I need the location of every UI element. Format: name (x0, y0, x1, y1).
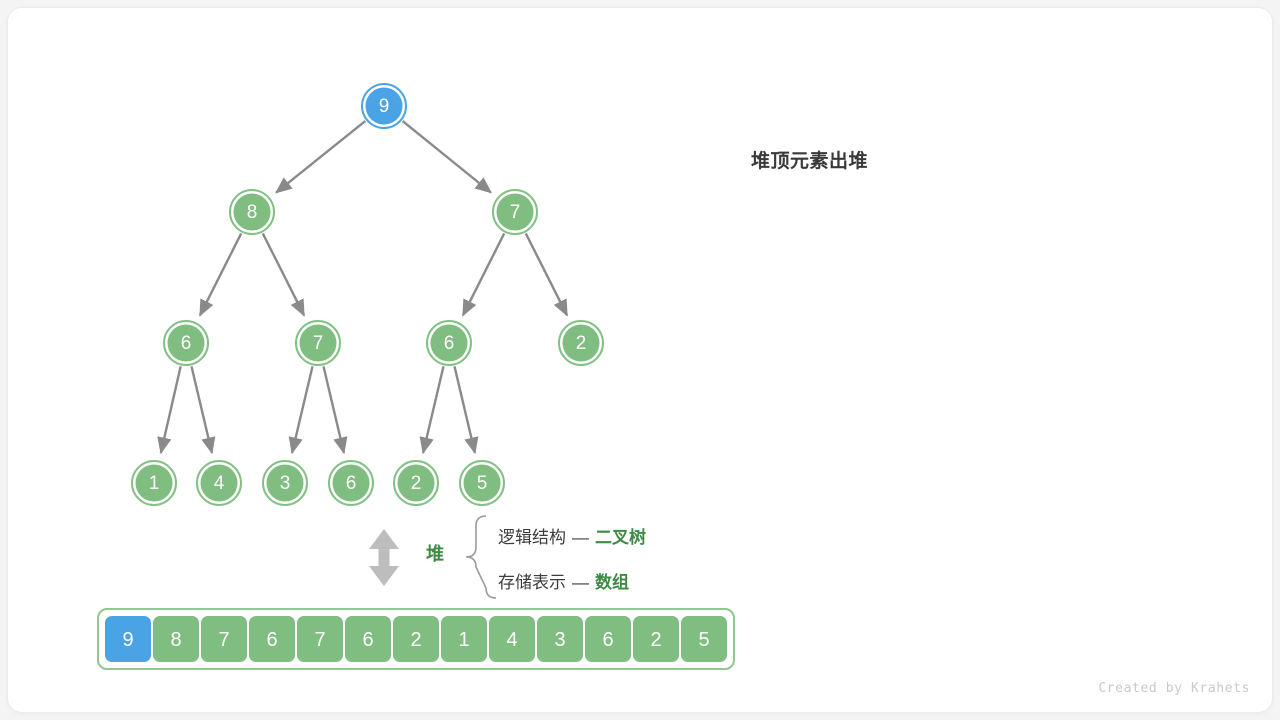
tree-node[interactable]: 9 (362, 84, 406, 128)
figure-card: 9876762143625 9876762143625 堆顶元素出堆 堆 逻辑结… (8, 8, 1272, 712)
tree-node[interactable]: 5 (460, 461, 504, 505)
tree-node[interactable]: 6 (164, 321, 208, 365)
array-cell-value: 2 (650, 629, 661, 651)
tree-node[interactable]: 2 (559, 321, 603, 365)
figure-canvas: 9876762143625 9876762143625 堆顶元素出堆 堆 逻辑结… (0, 0, 1280, 720)
array-cell-value: 2 (410, 629, 421, 651)
array-cell-value: 4 (506, 629, 517, 651)
credit-text: Created by Krahets (1098, 681, 1250, 696)
tree-node[interactable]: 1 (132, 461, 176, 505)
tree-edges (161, 121, 567, 453)
tree-edge (292, 366, 312, 452)
double-arrow-icon (369, 529, 399, 586)
tree-node[interactable]: 4 (197, 461, 241, 505)
array-cell[interactable]: 7 (297, 616, 343, 662)
array-cell-value: 6 (266, 629, 277, 651)
array-cell[interactable]: 7 (201, 616, 247, 662)
legend-row-logical: 逻辑结构—二叉树 (498, 523, 646, 548)
array-cell-value: 6 (602, 629, 613, 651)
tree-node[interactable]: 2 (394, 461, 438, 505)
node-value: 7 (510, 202, 521, 223)
node-value: 6 (181, 333, 192, 354)
tree-edge (276, 121, 365, 193)
tree-edge (192, 366, 212, 452)
array-cell-value: 9 (122, 629, 133, 651)
array-cell[interactable]: 2 (393, 616, 439, 662)
tree-node[interactable]: 6 (427, 321, 471, 365)
tree-edge (423, 366, 443, 452)
heap-diagram-svg: 9876762143625 9876762143625 (8, 8, 1272, 712)
node-value: 4 (214, 473, 225, 494)
node-value: 9 (379, 96, 390, 117)
tree-edge (263, 233, 304, 315)
array-cell-value: 5 (698, 629, 709, 651)
node-value: 8 (247, 202, 258, 223)
legend-dash-logical: — (566, 528, 595, 547)
node-value: 7 (313, 333, 324, 354)
array-cell-value: 7 (218, 629, 229, 651)
page-title: 堆顶元素出堆 (751, 146, 868, 173)
tree-node[interactable]: 7 (296, 321, 340, 365)
tree-node[interactable]: 6 (329, 461, 373, 505)
tree-node[interactable]: 7 (493, 190, 537, 234)
legend-term-array: 数组 (595, 573, 629, 592)
tree-edge (403, 121, 491, 192)
legend-row-storage: 存储表示—数组 (498, 568, 629, 593)
tree-edge (200, 233, 241, 315)
array-cell[interactable]: 6 (585, 616, 631, 662)
node-value: 5 (477, 473, 488, 494)
array-cell[interactable]: 3 (537, 616, 583, 662)
array-cell-value: 7 (314, 629, 325, 651)
array-cell[interactable]: 8 (153, 616, 199, 662)
legend-term-binary-tree: 二叉树 (595, 528, 646, 547)
array-cell[interactable]: 1 (441, 616, 487, 662)
up-down-arrow (369, 529, 399, 586)
array-cell[interactable]: 9 (105, 616, 151, 662)
legend-label-logical: 逻辑结构 (498, 528, 566, 547)
node-value: 6 (444, 333, 455, 354)
tree-edge (161, 366, 181, 452)
array-representation: 9876762143625 (98, 609, 734, 669)
array-cell[interactable]: 4 (489, 616, 535, 662)
tree-edge (455, 366, 475, 452)
array-cell-value: 3 (554, 629, 565, 651)
tree-edge (526, 233, 567, 315)
array-cell[interactable]: 5 (681, 616, 727, 662)
array-cell[interactable]: 6 (345, 616, 391, 662)
node-value: 3 (280, 473, 291, 494)
tree-edge (463, 233, 504, 315)
array-cell[interactable]: 6 (249, 616, 295, 662)
array-cell[interactable]: 2 (633, 616, 679, 662)
node-value: 1 (149, 473, 160, 494)
node-value: 2 (411, 473, 422, 494)
curly-brace (466, 516, 496, 598)
array-cell-value: 6 (362, 629, 373, 651)
heap-label: 堆 (426, 540, 444, 566)
array-cell-value: 1 (458, 629, 469, 651)
tree-node[interactable]: 8 (230, 190, 274, 234)
array-cell-value: 8 (170, 629, 181, 651)
legend-dash-storage: — (566, 573, 595, 592)
node-value: 6 (346, 473, 357, 494)
tree-edge (324, 366, 344, 452)
tree-nodes: 9876762143625 (132, 84, 603, 505)
node-value: 2 (576, 333, 587, 354)
legend-brace (466, 516, 496, 598)
tree-node[interactable]: 3 (263, 461, 307, 505)
legend-label-storage: 存储表示 (498, 573, 566, 592)
